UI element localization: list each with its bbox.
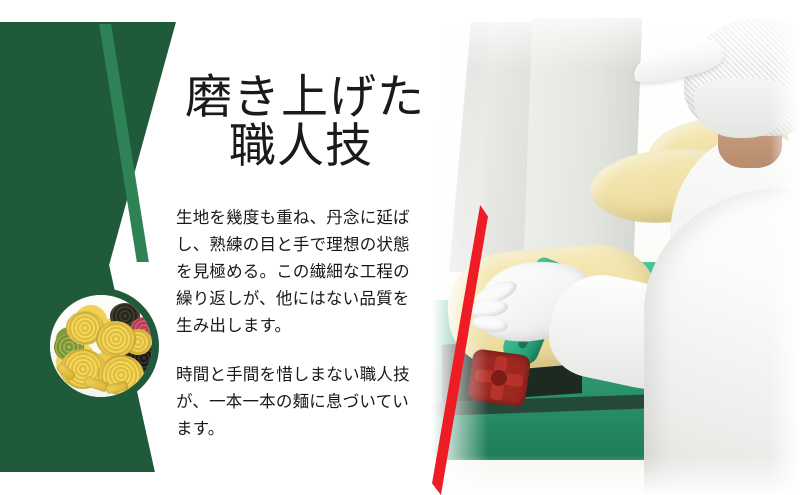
photo-fade-right <box>770 0 800 495</box>
body-paragraph-1: 生地を幾度も重ね、丹念に延ばし、熟練の目と手で理想の状態を見極める。この繊細な工… <box>176 205 416 340</box>
page-title: 磨き上げた 職人技 <box>185 72 455 170</box>
noodle-factory-worker-photo <box>432 0 800 495</box>
text-column: 磨き上げた 職人技 生地を幾度も重ね、丹念に延ばし、熟練の目と手で理想の状態を見… <box>176 0 446 495</box>
headline-line-1: 磨き上げた <box>185 70 425 123</box>
body-paragraph-2: 時間と手間を惜しまない職人技が、一本一本の麺に息づいています。 <box>176 362 416 443</box>
pasta-nests-photo <box>43 288 159 404</box>
handwheel-hub <box>490 369 508 387</box>
headline-line-2: 職人技 <box>185 121 455 170</box>
slide-canvas: 磨き上げた 職人技 生地を幾度も重ね、丹念に延ばし、熟練の目と手で理想の状態を見… <box>0 0 800 495</box>
pasta-nest-yellow <box>96 321 136 357</box>
body-copy: 生地を幾度も重ね、丹念に延ばし、熟練の目と手で理想の状態を見極める。この繊細な工… <box>176 205 416 443</box>
photo-fade-bottom <box>432 455 800 495</box>
green-side-panel <box>0 22 176 472</box>
